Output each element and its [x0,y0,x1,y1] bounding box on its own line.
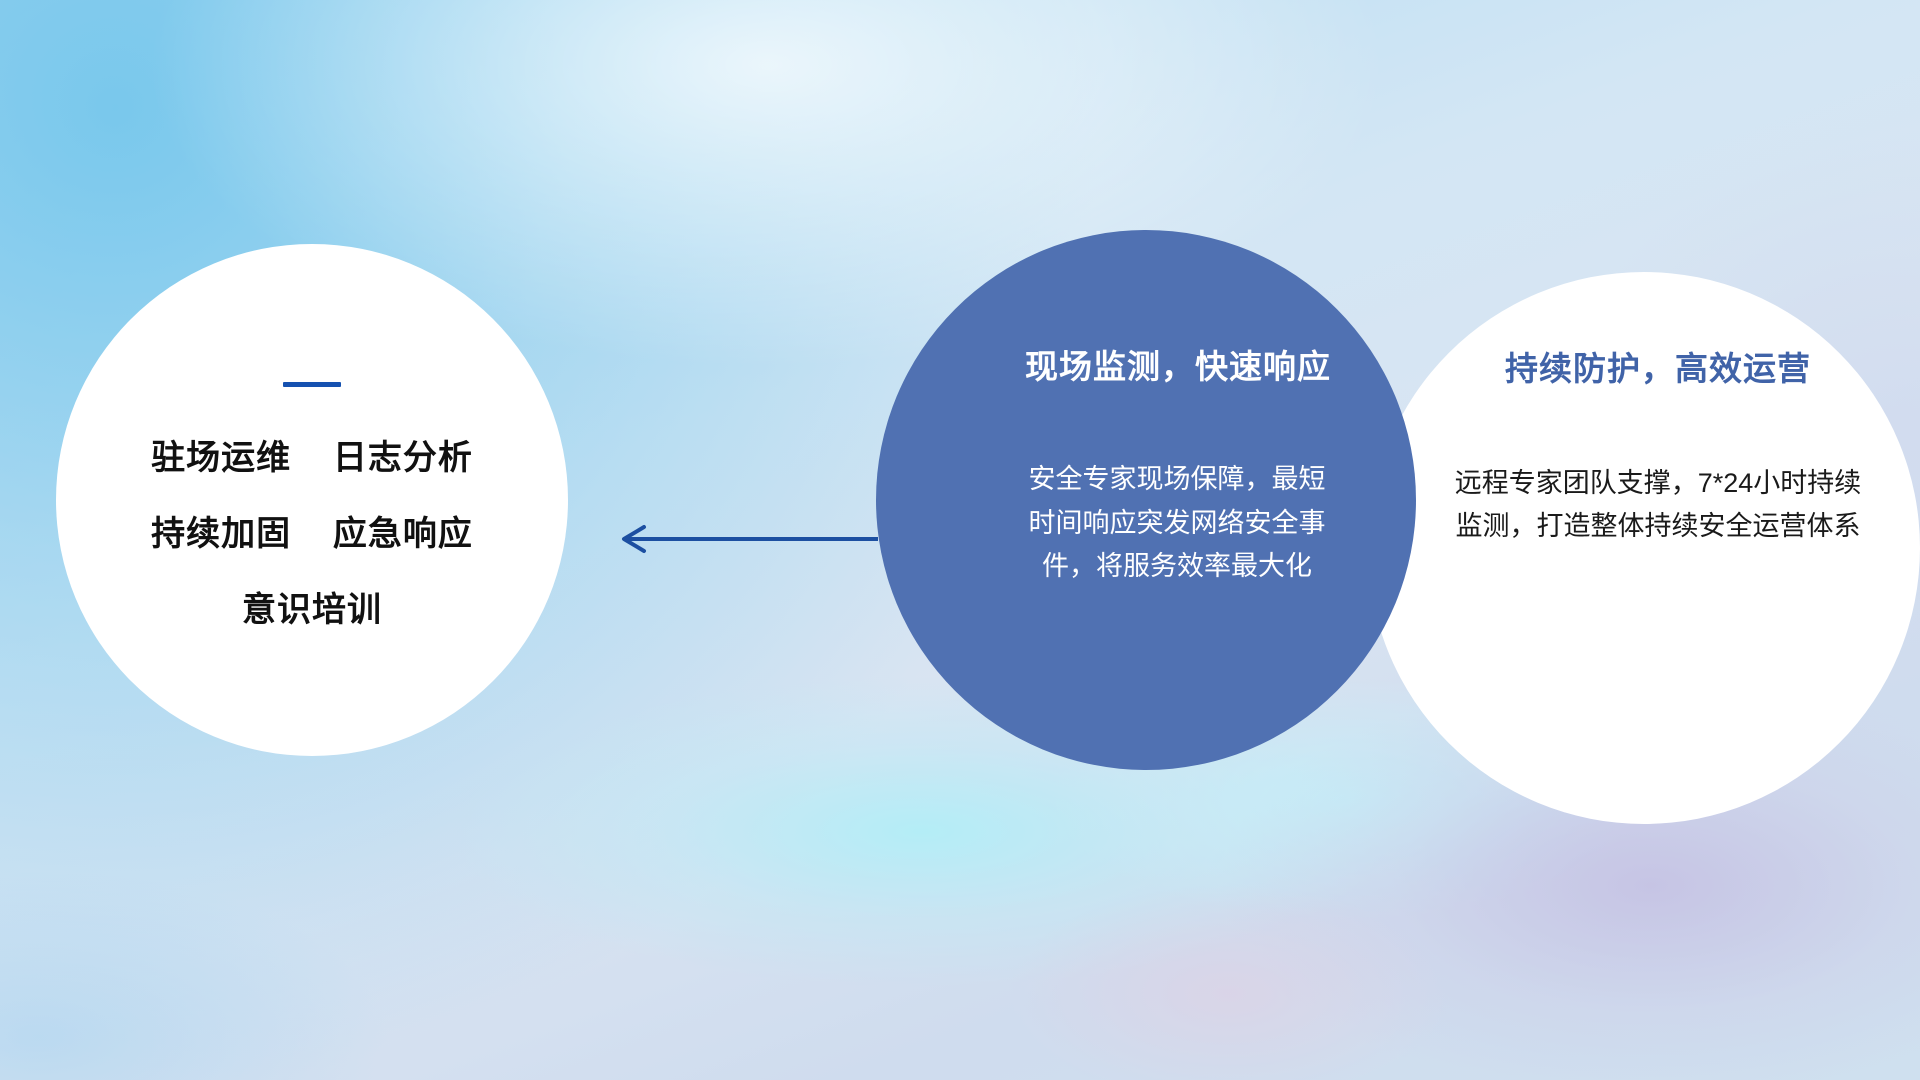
left-circle-divider [283,382,341,387]
left-circle-line-1: 驻场运维 日志分析 [151,441,473,475]
right-circle-content: 持续防护，高效运营 远程专家团队支撑，7*24小时持续监测，打造整体持续安全运营… [1368,272,1920,824]
right-circle-body: 远程专家团队支撑，7*24小时持续监测，打造整体持续安全运营体系 [1448,462,1868,548]
center-circle-title: 现场监测，快速响应 [1025,340,1331,388]
left-circle-content: 驻场运维 日志分析 持续加固 应急响应 意识培训 [56,244,568,756]
center-circle-body: 安全专家现场保障，最短时间响应突发网络安全事件，将服务效率最大化 [1027,458,1327,589]
left-circle-line-3: 意识培训 [242,593,382,627]
slide-canvas: 驻场运维 日志分析 持续加固 应急响应 意识培训 现场监测，快速响应 安全专家现… [0,0,1920,1080]
right-circle-title: 持续防护，高效运营 [1505,342,1811,390]
center-circle-content: 现场监测，快速响应 安全专家现场保障，最短时间响应突发网络安全事件，将服务效率最… [876,230,1416,770]
left-circle-line-2: 持续加固 应急响应 [151,517,473,551]
left-arrow-icon [610,522,880,556]
